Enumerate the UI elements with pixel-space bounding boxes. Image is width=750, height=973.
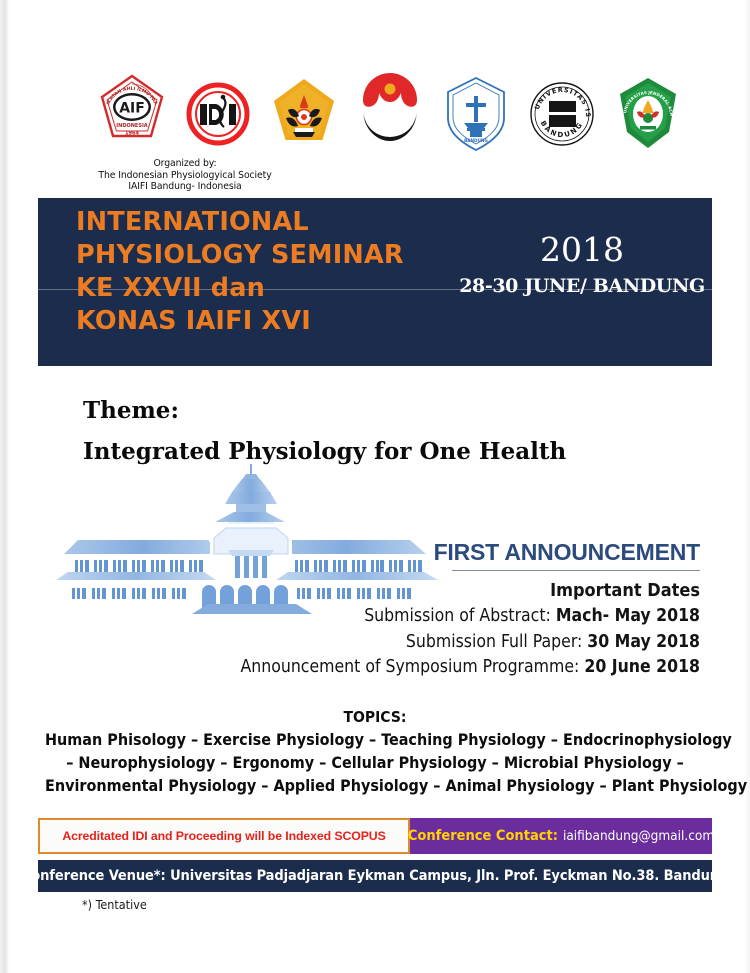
maranatha-logo: BANDUNG — [440, 70, 512, 158]
seminar-title-line-2: PHYSIOLOGY SEMINAR — [76, 239, 516, 272]
date-value-abstract: Mach- May 2018 — [556, 606, 700, 626]
seminar-title-line-1: INTERNATIONAL — [76, 206, 516, 239]
conference-contact-bar: Conference Contact: iaifibandung@gmail.c… — [410, 818, 712, 854]
date-row-full-paper: Submission Full Paper: 30 May 2018 — [200, 630, 700, 656]
contact-email[interactable]: iaifibandung@gmail.com — [563, 828, 714, 844]
svg-text:BANDUNG: BANDUNG — [464, 138, 488, 143]
important-dates-block: Important Dates Submission of Abstract: … — [200, 578, 700, 681]
topics-heading: TOPICS: — [45, 706, 705, 728]
organizer-credit: Organized by: The Indonesian Physiologyi… — [60, 158, 310, 193]
seminar-title-line-4: KONAS IAIFI XVI — [76, 305, 516, 338]
page-edge-left — [0, 0, 9, 973]
idi-logo — [182, 70, 254, 158]
topics-line-2: – Neurophysiology – Ergonomy – Cellular … — [45, 751, 705, 774]
date-label-full-paper: Submission Full Paper: — [406, 632, 582, 652]
iaifi-logo: AIF IKATAN AHLI ILMU FAAL INDONESIA 1964 — [96, 70, 168, 158]
conference-venue-bar: Conference Venue*: Universitas Padjadjar… — [38, 860, 712, 892]
date-value-programme: 20 June 2018 — [584, 657, 700, 677]
svg-text:1964: 1964 — [125, 131, 139, 137]
date-label-programme: Announcement of Symposium Programme: — [240, 657, 579, 677]
svg-text:INDONESIA: INDONESIA — [116, 123, 148, 129]
date-label-abstract: Submission of Abstract: — [364, 606, 551, 626]
event-date-location: 28-30 JUNE/ BANDUNG — [442, 276, 722, 297]
accreditation-text: Acreditated IDI and Proceeding will be I… — [62, 829, 385, 843]
green-university-logo: UNIVERSITAS JENDERAL ACHMAD YANI — [612, 70, 684, 158]
svg-text:AIF: AIF — [119, 101, 145, 117]
important-dates-heading: Important Dates — [200, 578, 700, 604]
organizer-line-1: Organized by: — [60, 158, 310, 170]
upi-logo — [354, 70, 426, 158]
poster-page: AIF IKATAN AHLI ILMU FAAL INDONESIA 1964 — [0, 0, 750, 973]
organizer-line-3: IAIFI Bandung- Indonesia — [60, 181, 310, 193]
date-row-abstract: Submission of Abstract: Mach- May 2018 — [200, 604, 700, 630]
theme-label: Theme: — [83, 390, 566, 431]
topics-line-1: Human Phisology – Exercise Physiology – … — [45, 728, 705, 751]
date-row-programme: Announcement of Symposium Programme: 20 … — [200, 655, 700, 681]
announcement-underline — [452, 570, 700, 571]
date-value-full-paper: 30 May 2018 — [587, 632, 700, 652]
topics-line-3: Environmental Physiology – Applied Physi… — [45, 774, 705, 797]
venue-text: Conference Venue*: Universitas Padjadjar… — [22, 868, 728, 884]
organizer-line-2: The Indonesian Physiologyical Society — [60, 170, 310, 182]
first-announcement-heading: FIRST ANNOUNCEMENT — [330, 538, 700, 566]
tentative-footnote: *) Tentative — [82, 897, 147, 912]
unisba-logo: UNIVERSITAS ISLAM BANDUNG — [526, 70, 598, 158]
event-year: 2018 — [452, 232, 712, 268]
theme-block: Theme: Integrated Physiology for One Hea… — [83, 390, 566, 472]
page-edge-right — [744, 0, 750, 973]
seminar-title: INTERNATIONAL PHYSIOLOGY SEMINAR KE XXVI… — [76, 206, 516, 338]
topics-block: TOPICS: Human Phisology – Exercise Physi… — [45, 706, 705, 797]
accreditation-badge: Acreditated IDI and Proceeding will be I… — [38, 818, 410, 854]
unpad-logo — [268, 70, 340, 158]
contact-label: Conference Contact: — [408, 828, 558, 844]
organizer-logo-row: AIF IKATAN AHLI ILMU FAAL INDONESIA 1964 — [96, 68, 696, 160]
